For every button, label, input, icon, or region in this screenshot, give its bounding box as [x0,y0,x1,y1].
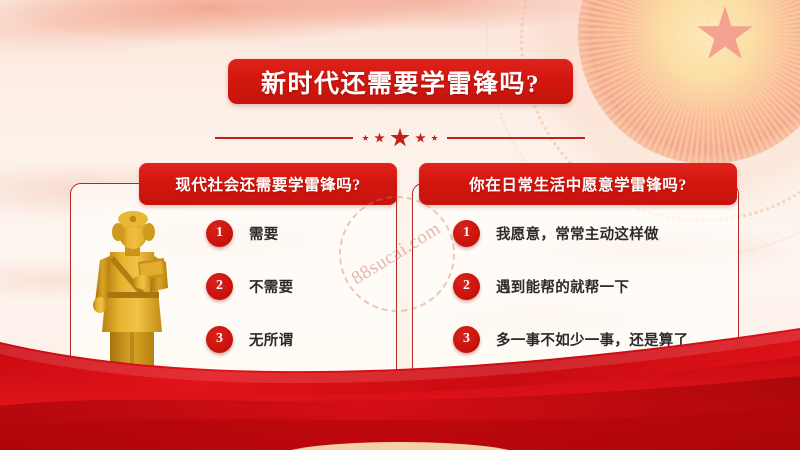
option-item[interactable]: 2 不需要 [206,273,293,299]
question-panel-1-title: 现代社会还需要学雷锋吗? [175,173,360,195]
option-item[interactable]: 1 需要 [206,220,293,246]
red-flag-ribbon [0,310,800,450]
option-label: 遇到能帮的就帮一下 [496,276,629,297]
option-label: 不需要 [249,276,293,297]
option-item[interactable]: 1 我愿意，常常主动这样做 [453,220,688,246]
option-number-badge: 2 [453,273,480,300]
small-star-icon [362,135,369,142]
option-label: 我愿意，常常主动这样做 [496,223,659,244]
divider-star-group [362,128,438,148]
page-title: 新时代还需要学雷锋吗? [261,64,540,100]
option-label: 需要 [249,223,279,244]
small-star-icon [431,135,438,142]
star-divider [0,126,800,150]
medium-star-icon [415,133,426,144]
divider-line-left [215,137,353,139]
medium-star-icon [374,133,385,144]
question-panel-2-title: 你在日常生活中愿意学雷锋吗? [469,173,687,195]
divider-line-right [447,137,585,139]
question-panel-2-header: 你在日常生活中愿意学雷锋吗? [419,163,737,205]
question-panel-1-header: 现代社会还需要学雷锋吗? [139,163,397,205]
option-number-badge: 1 [206,220,233,247]
option-number-badge: 2 [206,273,233,300]
option-number-badge: 1 [453,220,480,247]
option-item[interactable]: 2 遇到能帮的就帮一下 [453,273,688,299]
large-star-icon [390,128,410,148]
slide-canvas: 新时代还需要学雷锋吗? 现代社会还需要学雷锋吗? [0,0,800,450]
page-title-banner: 新时代还需要学雷锋吗? [228,59,573,104]
